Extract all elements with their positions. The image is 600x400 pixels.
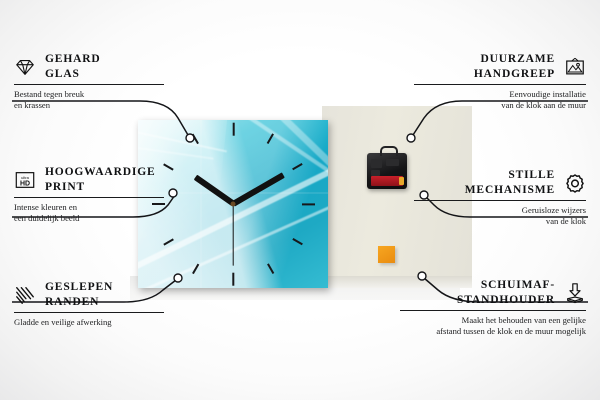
svg-text:HD: HD xyxy=(20,180,30,187)
ultra-hd-icon: ultra HD xyxy=(14,169,36,191)
product-photo xyxy=(130,88,460,300)
feature-heading: ultra HD HOOGWAARDIGE PRINT xyxy=(14,165,164,194)
feature-title: STILLE MECHANISME xyxy=(465,168,555,197)
feature-desc: Maakt het behouden van een gelijke afsta… xyxy=(400,315,586,337)
feature-title: GEHARD GLAS xyxy=(45,52,101,81)
feature-heading: GESLEPEN RANDEN xyxy=(14,280,164,309)
clock-center-pin xyxy=(231,202,236,207)
clock-tick xyxy=(267,264,274,274)
clock-tick xyxy=(232,122,234,135)
clock-tick xyxy=(267,134,274,144)
glass-pane-line xyxy=(138,192,328,194)
feature-rule xyxy=(14,84,164,85)
feature-title: DUURZAME HANDGREEP xyxy=(474,52,555,81)
feature-desc: Intense kleuren en een duidelijk beeld xyxy=(14,202,164,224)
print-streak xyxy=(219,120,328,179)
gear-icon xyxy=(564,172,586,194)
mechanism-hanger xyxy=(380,146,398,156)
feature-schuimafstandhouder: SCHUIMAF- STANDHOUDER Maakt het behouden… xyxy=(400,278,586,337)
feature-desc: Geruisloze wijzers van de klok xyxy=(414,205,586,227)
feature-rule xyxy=(14,197,164,198)
clock-tick xyxy=(293,163,303,170)
feature-heading: SCHUIMAF- STANDHOUDER xyxy=(400,278,586,307)
clock-tick xyxy=(302,203,315,205)
mechanism-battery xyxy=(371,176,403,186)
clock-tick xyxy=(232,272,234,285)
foam-spacer-pad xyxy=(378,246,395,263)
minute-hand xyxy=(232,173,285,207)
feature-stille-mechanisme: STILLE MECHANISME Geruisloze wijzers van… xyxy=(414,168,586,227)
feature-gehard-glas: GEHARD GLAS Bestand tegen breuk en krass… xyxy=(14,52,164,111)
product-infographic: GEHARD GLAS Bestand tegen breuk en krass… xyxy=(0,0,600,400)
feature-rule xyxy=(414,200,586,201)
feature-desc: Bestand tegen breuk en krassen xyxy=(14,89,164,111)
mechanism-detail xyxy=(386,159,399,166)
glass-clock-face xyxy=(138,120,328,288)
bevelled-edges-icon xyxy=(14,284,36,306)
feature-heading: DUURZAME HANDGREEP xyxy=(414,52,586,81)
clock-mechanism xyxy=(367,153,407,189)
feature-title: SCHUIMAF- STANDHOUDER xyxy=(457,278,555,307)
feature-heading: GEHARD GLAS xyxy=(14,52,164,81)
picture-frame-icon xyxy=(564,56,586,78)
feature-title: HOOGWAARDIGE PRINT xyxy=(45,165,156,194)
feature-duurzame-handgreep: DUURZAME HANDGREEP Eenvoudige installati… xyxy=(414,52,586,111)
feature-desc: Gladde en veilige afwerking xyxy=(14,317,164,328)
diamond-icon xyxy=(14,56,36,78)
glass-pane-line xyxy=(200,120,202,288)
feature-rule xyxy=(400,310,586,311)
feature-hoogwaardige-print: ultra HD HOOGWAARDIGE PRINT Intense kleu… xyxy=(14,165,164,224)
feature-heading: STILLE MECHANISME xyxy=(414,168,586,197)
feature-desc: Eenvoudige installatie van de klok aan d… xyxy=(414,89,586,111)
feature-title: GESLEPEN RANDEN xyxy=(45,280,113,309)
feature-geslepen-randen: GESLEPEN RANDEN Gladde en veilige afwerk… xyxy=(14,280,164,328)
spacer-arrow-icon xyxy=(564,282,586,304)
svg-text:ultra: ultra xyxy=(21,175,30,180)
feature-rule xyxy=(14,312,164,313)
clock-tick xyxy=(293,238,303,245)
second-hand xyxy=(232,204,233,266)
feature-rule xyxy=(414,84,586,85)
mechanism-detail xyxy=(371,159,382,168)
